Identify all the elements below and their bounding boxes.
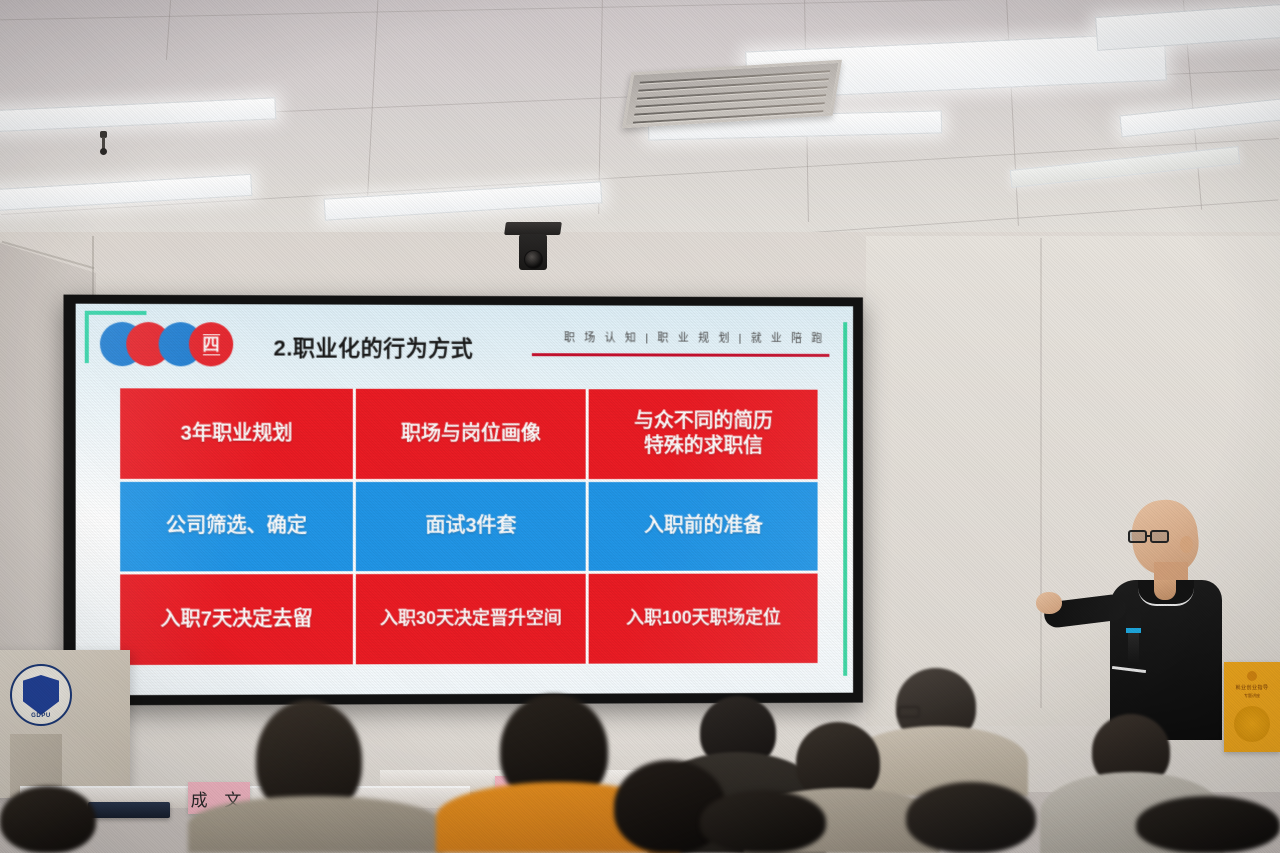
grid-cell: 入职前的准备: [589, 482, 818, 571]
grid-cell: 面试3件套: [356, 482, 586, 572]
notebook: [88, 802, 170, 818]
sprinkler-head: [100, 131, 107, 155]
emblem-monogram: GDPU: [12, 713, 70, 719]
grid-cell-line1: 职场与岗位画像: [401, 423, 541, 445]
poster-title: 就业创业指导: [1224, 684, 1280, 691]
event-poster: 就业创业指导 专题讲座: [1224, 662, 1280, 752]
grid-cell: 职场与岗位画像: [356, 389, 586, 479]
grid-cell-line1: 面试3件套: [425, 515, 516, 537]
section-number-badge: 四: [189, 322, 233, 366]
section-number-label: 四: [202, 334, 219, 355]
audience-head: [0, 786, 96, 853]
slide-accent-edge: [86, 311, 147, 315]
grid-cell-line1: 与众不同的简历: [634, 411, 773, 433]
slide-title: 2.职业化的行为方式: [273, 330, 473, 363]
poster-seal-icon: [1247, 671, 1257, 681]
projection-screen: 四 2.职业化的行为方式 职 场 认 知 | 职 业 规 划 | 就 业 陪 跑…: [63, 295, 862, 706]
grid-cell: 入职30天决定晋升空间: [356, 574, 586, 664]
glasses-icon: [1128, 530, 1174, 544]
audience-head: [906, 782, 1036, 853]
slide-header-tags: 职 场 认 知 | 职 业 规 划 | 就 业 陪 跑: [564, 329, 826, 346]
lecture-hall-photo: 四 2.职业化的行为方式 职 场 认 知 | 职 业 规 划 | 就 业 陪 跑…: [0, 0, 1280, 853]
slide-header-rule: [532, 353, 830, 356]
audience-head: [700, 790, 826, 853]
audience-shoulders: [188, 796, 444, 853]
grid-cell-line1: 公司筛选、确定: [166, 515, 307, 537]
presenter-hand: [1036, 592, 1062, 614]
grid-cell: 3年职业规划: [120, 388, 352, 478]
wall-seam: [1040, 238, 1042, 708]
ceiling-light-panel: [1119, 97, 1280, 138]
presentation-slide: 四 2.职业化的行为方式 职 场 认 知 | 职 业 规 划 | 就 业 陪 跑…: [76, 304, 853, 696]
grid-cell-line1: 入职前的准备: [644, 515, 763, 537]
grid-cell-line2: 特殊的求职信: [634, 434, 773, 458]
emblem-shield-icon: [23, 675, 59, 715]
presenter-ear: [1180, 536, 1193, 553]
grid-cell: 入职100天职场定位: [589, 574, 818, 664]
ceiling-camera-icon: [505, 222, 561, 284]
slide-accent-edge: [843, 322, 847, 676]
ceiling: [0, 0, 1280, 262]
microphone-icon: [1126, 608, 1141, 666]
grid-cell-line1: 入职100天职场定位: [626, 608, 781, 628]
grid-cell: 入职7天决定去留: [120, 574, 352, 664]
presenter-collar: [1138, 580, 1194, 606]
poster-subtitle: 专题讲座: [1224, 693, 1280, 699]
grid-cell: 与众不同的简历 特殊的求职信: [589, 389, 818, 479]
grid-cell-line1: 3年职业规划: [181, 422, 293, 444]
audience-glasses-icon: [898, 706, 920, 718]
grid-cell-line1: 入职30天决定晋升空间: [380, 608, 562, 628]
presenter: [1108, 500, 1232, 740]
grid-cell-line1: 入职7天决定去留: [160, 608, 312, 630]
slide-content-grid: 3年职业规划 职场与岗位画像 与众不同的简历 特殊的求职信 公司筛选、确定 面试…: [120, 388, 817, 665]
grid-cell: 公司筛选、确定: [120, 482, 352, 572]
ceiling-light-panel: [1095, 3, 1280, 51]
audience-head: [1136, 796, 1280, 853]
poster-medal-graphic: [1234, 706, 1270, 742]
slide-header: 四 2.职业化的行为方式 职 场 认 知 | 职 业 规 划 | 就 业 陪 跑: [76, 322, 853, 370]
ceiling-light-panel: [0, 97, 276, 132]
university-emblem: GDPU: [10, 664, 72, 726]
